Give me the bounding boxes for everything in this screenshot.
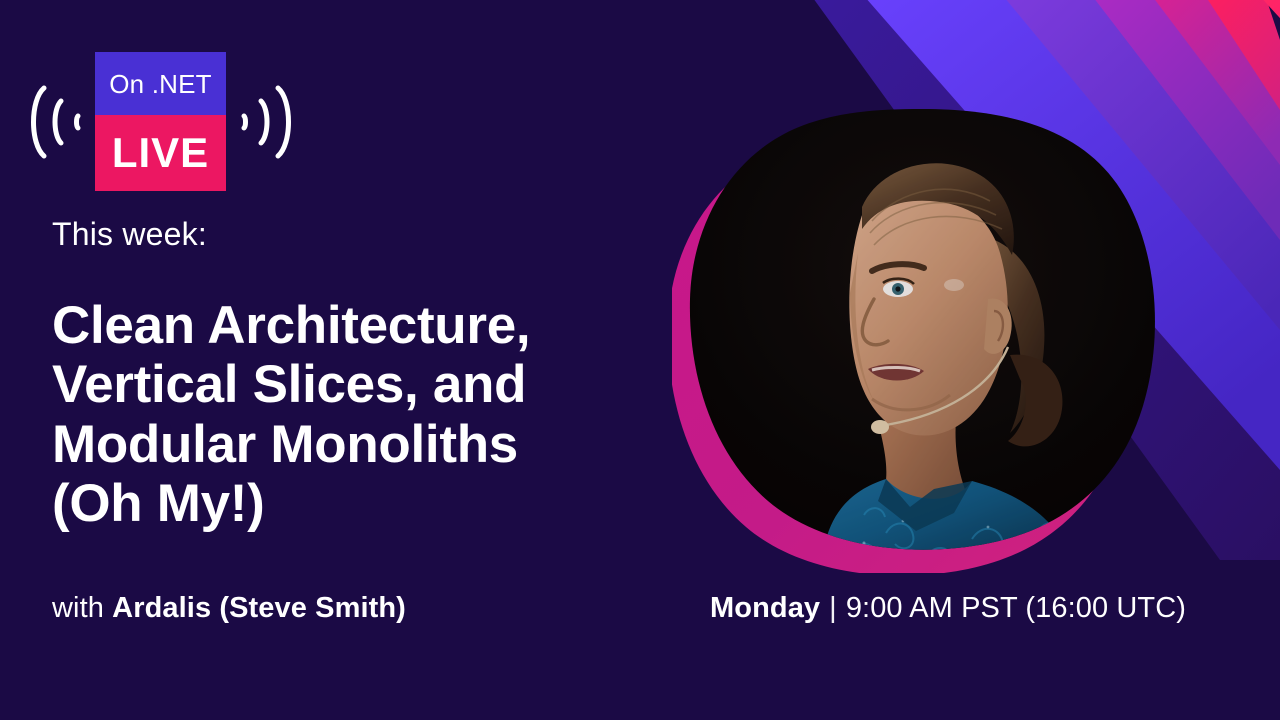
on-dotnet-live-logo: On .NET LIVE xyxy=(28,52,298,192)
logo-on-dotnet-band: On .NET xyxy=(95,52,226,115)
speaker-photo xyxy=(672,103,1172,573)
broadcast-wave-right-icon xyxy=(232,84,294,165)
presenter-name: Ardalis (Steve Smith) xyxy=(112,592,406,624)
logo-live-band: LIVE xyxy=(95,115,226,191)
schedule-separator: | xyxy=(820,592,846,624)
schedule-time: 9:00 AM PST (16:00 UTC) xyxy=(846,592,1186,624)
kicker-this-week: This week: xyxy=(52,216,207,253)
broadcast-wave-left-icon xyxy=(28,84,90,165)
logo-on-dotnet-text: On .NET xyxy=(109,71,212,97)
presenter-prefix: with xyxy=(52,592,104,624)
logo-live-text: LIVE xyxy=(112,132,209,174)
episode-title: Clean Architecture, Vertical Slices, and… xyxy=(52,296,672,533)
schedule-line: Monday|9:00 AM PST (16:00 UTC) xyxy=(710,592,1186,625)
schedule-day: Monday xyxy=(710,592,820,624)
presenter-line: with Ardalis (Steve Smith) xyxy=(52,592,406,625)
logo-card: On .NET LIVE xyxy=(95,52,226,191)
